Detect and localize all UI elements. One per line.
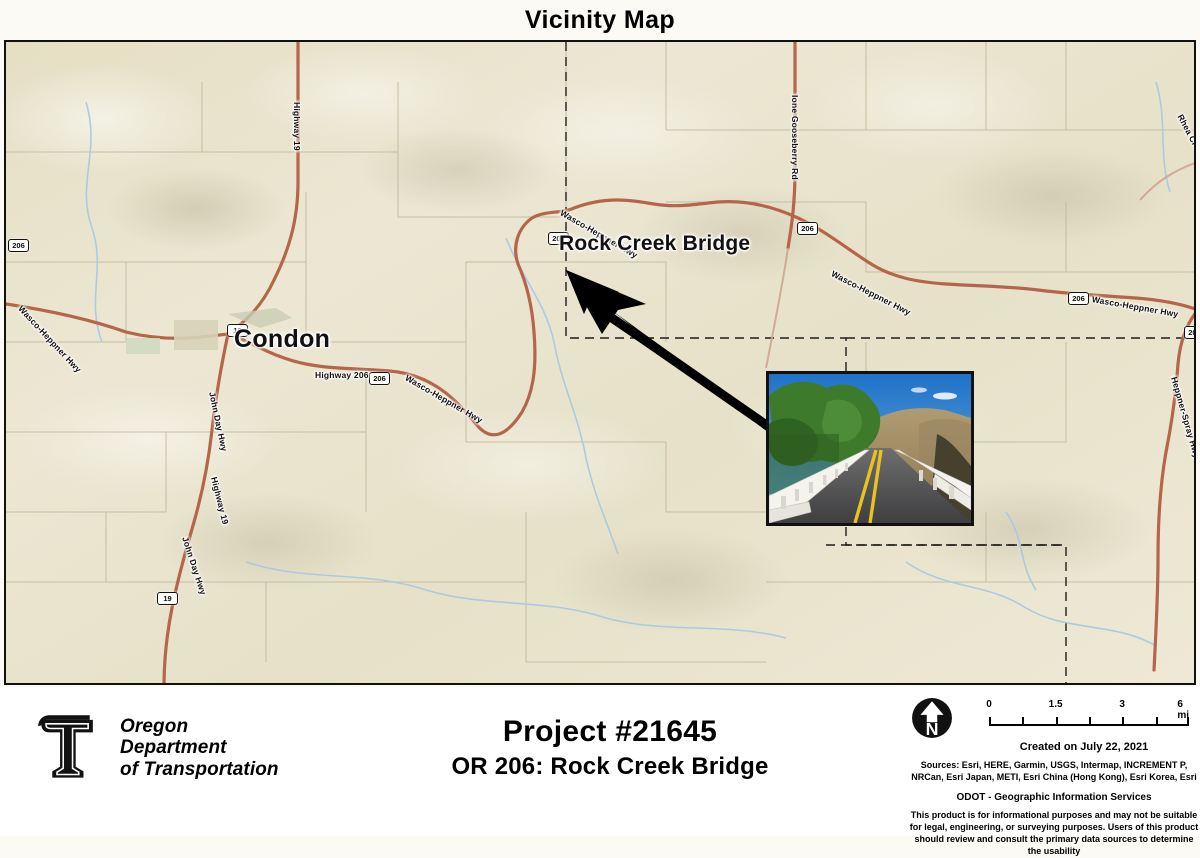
road-label-ione-gooseberry-rd-1: Ione Gooseberry Rd (790, 95, 800, 180)
map-canvas[interactable]: 2061920620620620620719 Highway 19Ione Go… (6, 42, 1194, 683)
highway-shield-206-2: 206 (369, 372, 390, 385)
highway-shield-19-7: 19 (157, 592, 178, 605)
inset-photo-rock-creek-bridge[interactable] (766, 371, 974, 526)
stream-network (86, 82, 1170, 646)
page-title: Vicinity Map (525, 6, 675, 35)
road-label-highway-19-0: Highway 19 (292, 102, 302, 151)
scale-bar: 0 1.5 3 6 mi (989, 699, 1189, 726)
odot-logo-block: Oregon Department of Transportation (32, 709, 279, 787)
county-boundary (566, 42, 1196, 685)
highway-shield-206-0: 206 (8, 239, 29, 252)
gis-credit: ODOT - Geographic Information Services (911, 792, 1197, 803)
place-label-rock-creek-bridge: Rock Creek Bridge (559, 232, 750, 256)
odot-logo-icon (32, 709, 110, 787)
data-sources-credit: Sources: Esri, HERE, Garmin, USGS, Inter… (911, 759, 1197, 784)
scale-tick-0: 0 (986, 699, 992, 710)
odot-line-2: Department (120, 737, 279, 758)
project-subtitle: OR 206: Rock Creek Bridge (400, 753, 820, 781)
scale-tick-1: 1.5 (1049, 699, 1063, 710)
highway-shield-206-5: 206 (1068, 292, 1089, 305)
inset-photo-image (769, 374, 971, 523)
svg-text:N: N (926, 719, 939, 739)
title-bar: Vicinity Map (0, 0, 1200, 40)
odot-wordmark: Oregon Department of Transportation (120, 716, 279, 780)
scale-tick-2: 3 (1119, 699, 1125, 710)
road-label-highway-206-9: Highway 206 (315, 370, 369, 380)
map-vector-layer (6, 42, 1196, 685)
highway-shield-207-6: 207 (1184, 326, 1196, 339)
project-number: Project #21645 (400, 715, 820, 749)
scale-bar-labels: 0 1.5 3 6 mi (989, 699, 1189, 712)
place-label-condon: Condon (234, 325, 330, 354)
created-on-date: Created on July 22, 2021 (969, 741, 1199, 753)
footer: Oregon Department of Transportation Proj… (0, 687, 1200, 836)
state-highway-network (6, 42, 1196, 685)
highway-shield-206-4: 206 (797, 222, 818, 235)
map-frame[interactable]: 2061920620620620620719 Highway 19Ione Go… (4, 40, 1196, 685)
parcel-grid (6, 42, 1196, 662)
north-arrow-icon: N (911, 697, 953, 739)
project-block: Project #21645 OR 206: Rock Creek Bridge (400, 715, 820, 781)
odot-line-1: Oregon (120, 716, 279, 737)
odot-line-3: of Transportation (120, 759, 279, 780)
secondary-road-network (766, 162, 1196, 368)
disclaimer-text: This product is for informational purpos… (909, 809, 1199, 858)
scale-bar-line (989, 714, 1189, 726)
